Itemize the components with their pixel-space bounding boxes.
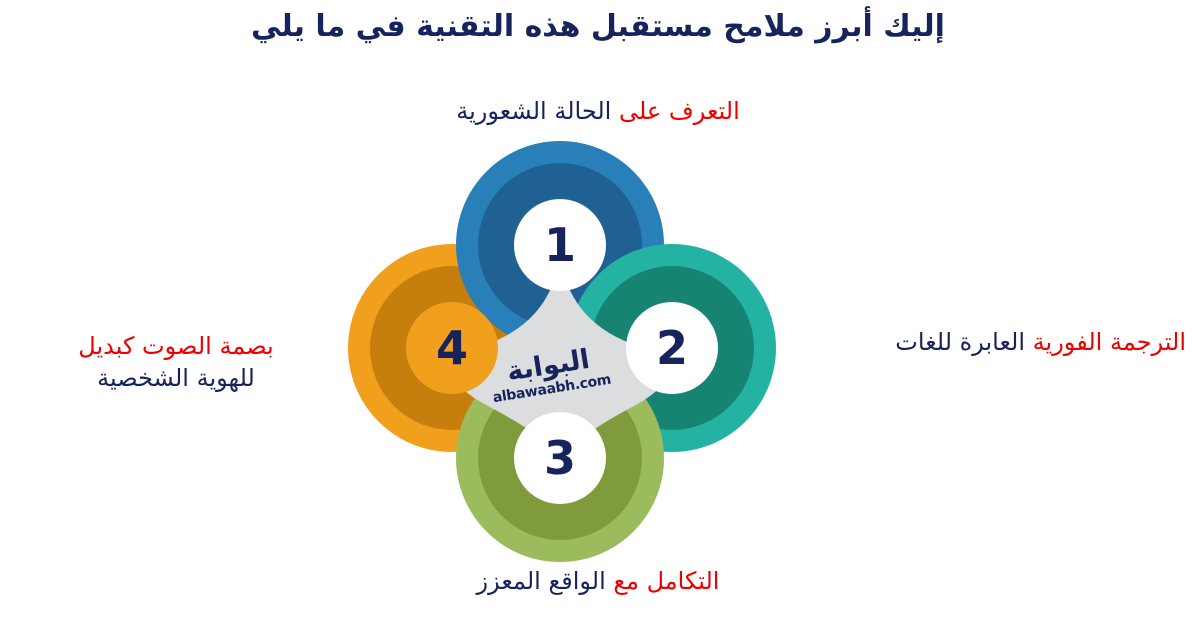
petal-4-label: بصمة الصوت كبديلللهوية الشخصية	[16, 331, 336, 394]
petal-4-label-red: بصمة الصوت كبديل	[78, 332, 273, 360]
petal-1-label-red: التعرف على	[619, 97, 740, 125]
petal-4-label-navy: للهوية الشخصية	[97, 364, 255, 392]
petal-2-label-navy: العابرة للغات	[895, 328, 1025, 356]
petal-1-number: 1	[544, 222, 576, 268]
infographic-canvas: إليك أبرز ملامح مستقبل هذه التقنية في ما…	[0, 0, 1196, 639]
petal-2-label: الترجمة الفورية العابرة للغات	[895, 327, 1186, 359]
petal-1-label: التعرف على الحالة الشعورية	[0, 96, 1196, 128]
petal-2-number-bubble[interactable]: 2	[626, 302, 718, 394]
petal-1-label-navy: الحالة الشعورية	[456, 97, 611, 125]
petal-1-number-bubble[interactable]: 1	[514, 199, 606, 291]
petal-4-number: 4	[436, 325, 468, 371]
petal-3-number-bubble[interactable]: 3	[514, 412, 606, 504]
petal-3-label-navy: الواقع المعزز	[477, 567, 606, 595]
petal-3-label: التكامل مع الواقع المعزز	[0, 566, 1196, 598]
petal-3-number: 3	[544, 435, 576, 481]
petal-3-label-red: التكامل مع	[613, 567, 719, 595]
petal-2-number: 2	[656, 325, 688, 371]
petal-4-number-bubble[interactable]: 4	[406, 302, 498, 394]
petal-2-label-red: الترجمة الفورية	[1033, 328, 1186, 356]
